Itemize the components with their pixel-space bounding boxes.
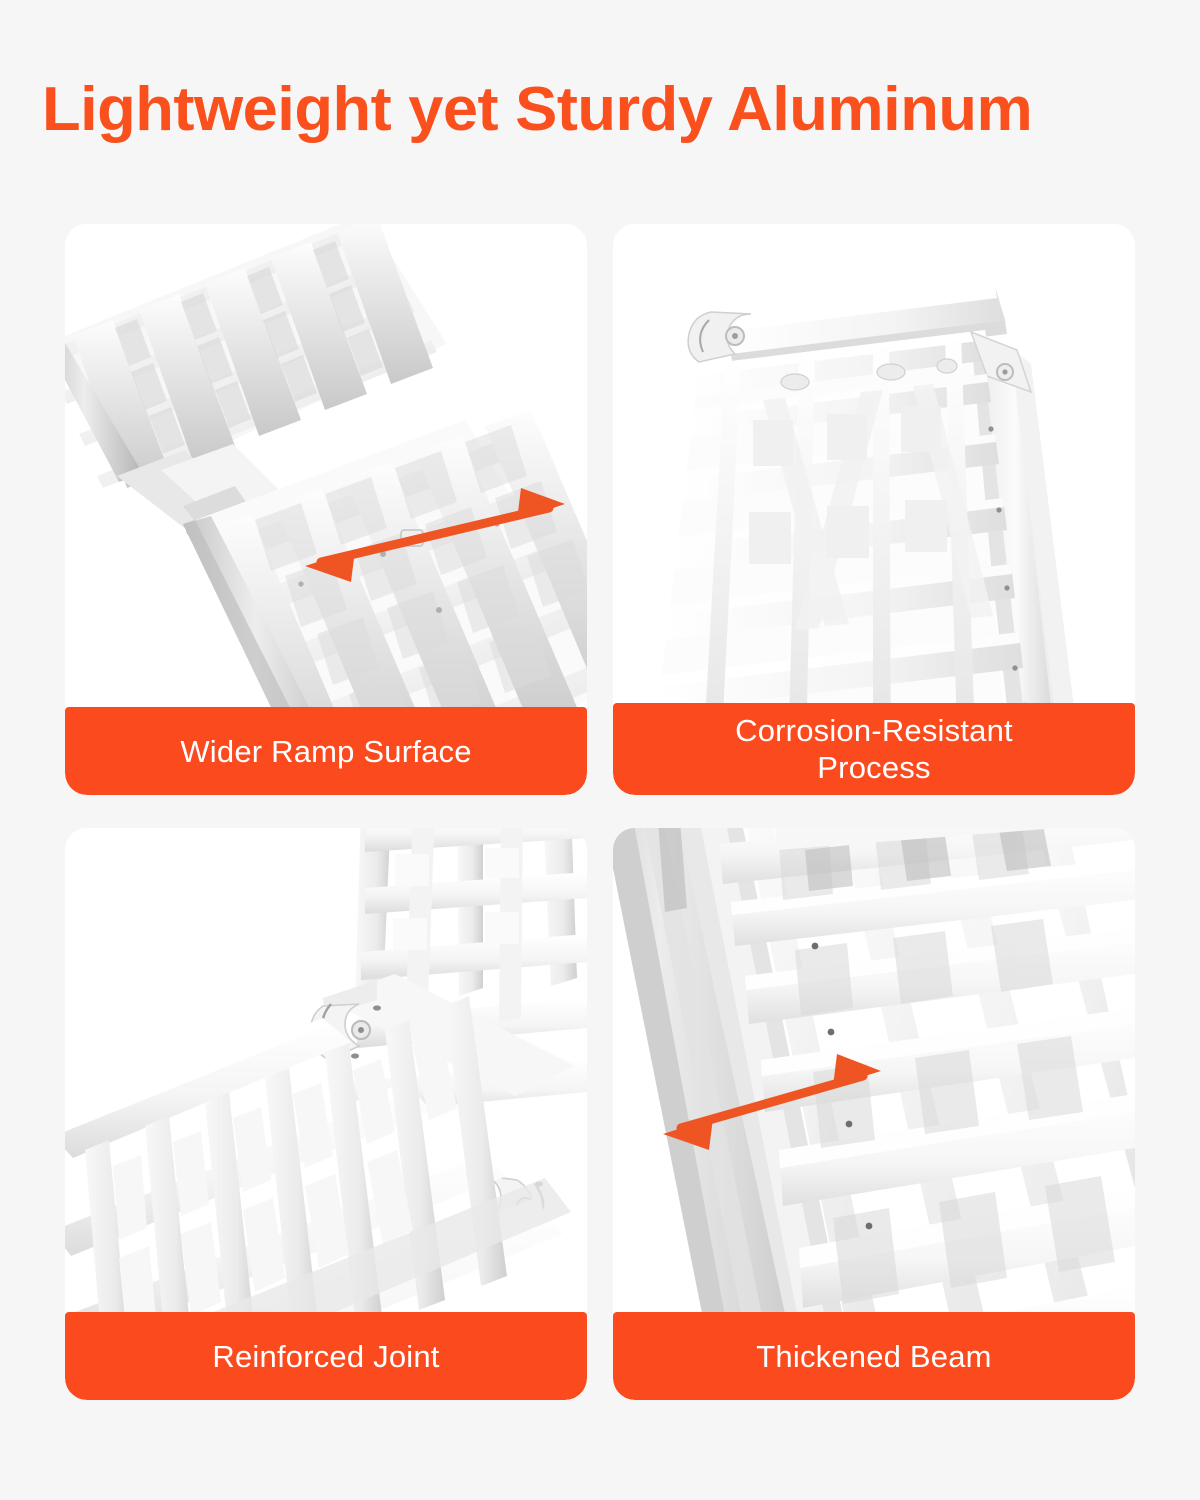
feature-card-reinforced-joint[interactable]: Reinforced Joint [65,828,587,1400]
caption-line: Wider Ramp Surface [180,733,471,770]
feature-card-wider-ramp-surface[interactable]: Wider Ramp Surface [65,224,587,795]
caption-line: Corrosion-Resistant [735,712,1013,749]
infographic-page: Lightweight yet Sturdy Aluminum [0,0,1200,1500]
caption-wider-ramp-surface: Wider Ramp Surface [65,707,587,795]
feature-card-corrosion-resistant-process[interactable]: Corrosion-Resistant Process [613,224,1135,795]
feature-card-thickened-beam[interactable]: Thickened Beam [613,828,1135,1400]
caption-thickened-beam: Thickened Beam [613,1312,1135,1400]
caption-corrosion-resistant-process: Corrosion-Resistant Process [613,703,1135,795]
page-title: Lightweight yet Sturdy Aluminum [42,74,1195,146]
feature-card-grid: Wider Ramp Surface [65,224,1135,1400]
caption-line: Reinforced Joint [212,1338,439,1375]
caption-line: Process [735,749,1013,786]
caption-reinforced-joint: Reinforced Joint [65,1312,587,1400]
caption-line: Thickened Beam [756,1338,991,1375]
